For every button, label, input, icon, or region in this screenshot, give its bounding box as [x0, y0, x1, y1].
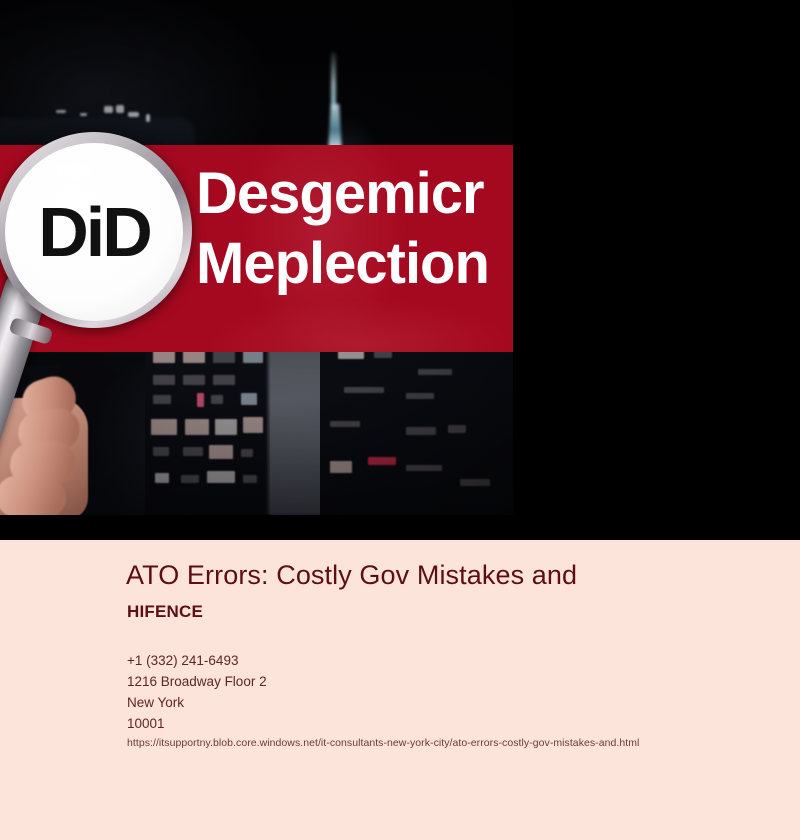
rooftop-light	[116, 105, 124, 113]
hero-image: Desgemicr Meplection DiD	[0, 0, 513, 515]
content-area: ATO Errors: Costly Gov Mistakes and HIFE…	[0, 540, 800, 840]
rooftop-light	[146, 114, 150, 122]
contact-street: 1216 Broadway Floor 2	[127, 671, 267, 692]
contact-city: New York	[127, 692, 267, 713]
page-title: ATO Errors: Costly Gov Mistakes and	[126, 560, 577, 591]
rooftop-light	[104, 106, 113, 113]
lens-glare	[32, 152, 116, 190]
rooftop-light	[56, 110, 66, 113]
contact-phone[interactable]: +1 (332) 241-6493	[127, 650, 267, 671]
contact-postal-code: 10001	[127, 713, 267, 734]
spire-mast	[331, 52, 336, 110]
building-right	[320, 325, 513, 515]
rooftop-light	[128, 112, 139, 117]
building-lit-facade	[268, 325, 323, 515]
did-logo: DiD	[38, 197, 150, 267]
organization-name: HIFENCE	[127, 602, 203, 622]
magnifier-ring: DiD	[0, 132, 192, 328]
rooftop-light	[80, 113, 87, 116]
hero-banner: Desgemicr Meplection DiD	[0, 0, 800, 540]
contact-block: +1 (332) 241-6493 1216 Broadway Floor 2 …	[127, 650, 267, 734]
source-url[interactable]: https://itsupportny.blob.core.windows.ne…	[127, 737, 639, 749]
magnifying-glass-icon: DiD	[0, 128, 246, 508]
